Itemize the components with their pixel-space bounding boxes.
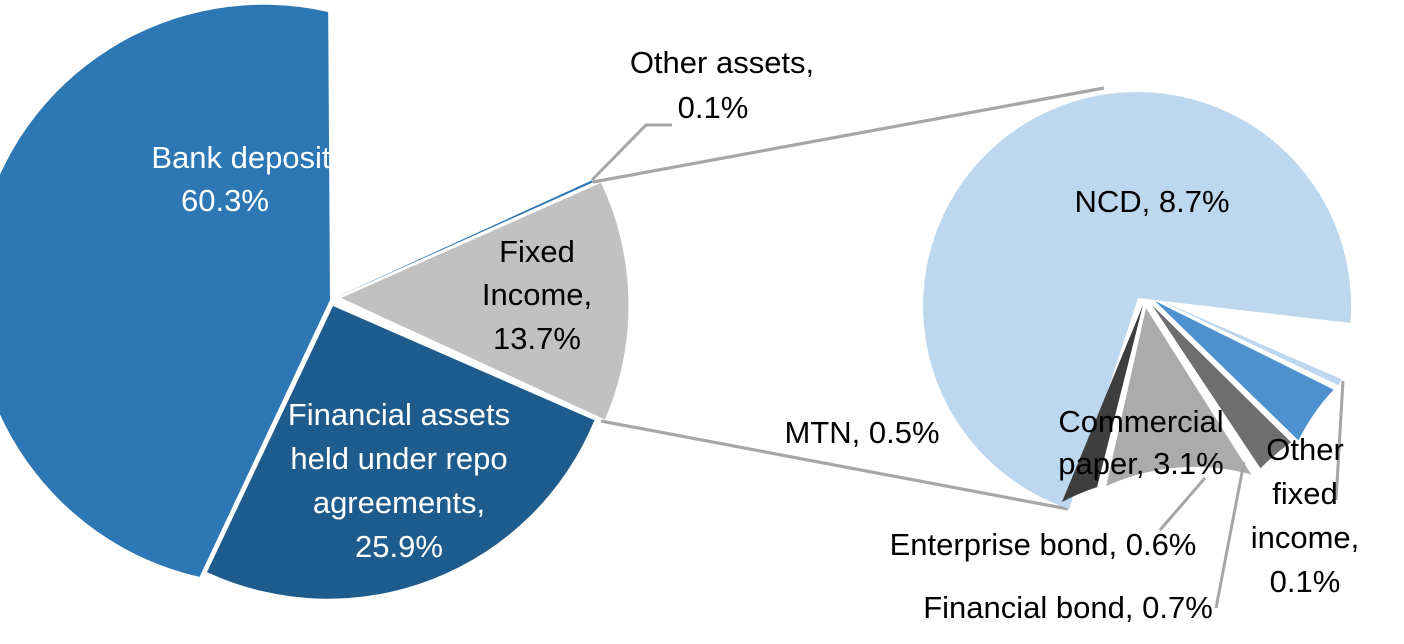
chart-canvas: Bank deposits, 60.3% Financial assets he… bbox=[0, 0, 1404, 644]
label-mtn-line1: MTN, 0.5% bbox=[784, 415, 939, 450]
label-other-fixed-income-line4: 0.1% bbox=[1270, 564, 1341, 599]
label-financial-bond-line1: Financial bond, 0.7% bbox=[923, 590, 1213, 625]
label-fixed-income-line2: Income, bbox=[482, 277, 592, 312]
label-other-fixed-income-line1: Other bbox=[1266, 432, 1344, 467]
label-commercial-paper-line2: paper, 3.1% bbox=[1058, 446, 1223, 481]
label-other-assets-line1: Other assets, bbox=[630, 45, 814, 80]
label-repo-line1: Financial assets bbox=[288, 397, 510, 432]
label-commercial-paper-line1: Commercial bbox=[1058, 404, 1223, 439]
label-ncd-line1: NCD, 8.7% bbox=[1074, 184, 1229, 219]
label-repo-line3: agreements, bbox=[313, 485, 485, 520]
label-bank-deposits-line1: Bank deposits, bbox=[151, 140, 354, 175]
callout-mtn: MTN, 0.5% bbox=[784, 415, 939, 450]
label-ncd: NCD, 8.7% bbox=[1074, 184, 1229, 219]
pie-chart-figure: Bank deposits, 60.3% Financial assets he… bbox=[0, 0, 1404, 644]
label-fixed-income-line1: Fixed bbox=[499, 234, 575, 269]
label-bank-deposits-line2: 60.3% bbox=[181, 183, 269, 218]
label-repo-line4: 25.9% bbox=[355, 529, 443, 564]
label-repo-line2: held under repo bbox=[290, 441, 507, 476]
label-other-fixed-income-line2: fixed bbox=[1272, 476, 1337, 511]
label-fixed-income-line3: 13.7% bbox=[493, 321, 581, 356]
label-other-fixed-income-line3: income, bbox=[1251, 520, 1360, 555]
label-other-assets-line2: 0.1% bbox=[678, 90, 749, 125]
label-enterprise-bond-line1: Enterprise bond, 0.6% bbox=[890, 527, 1197, 562]
